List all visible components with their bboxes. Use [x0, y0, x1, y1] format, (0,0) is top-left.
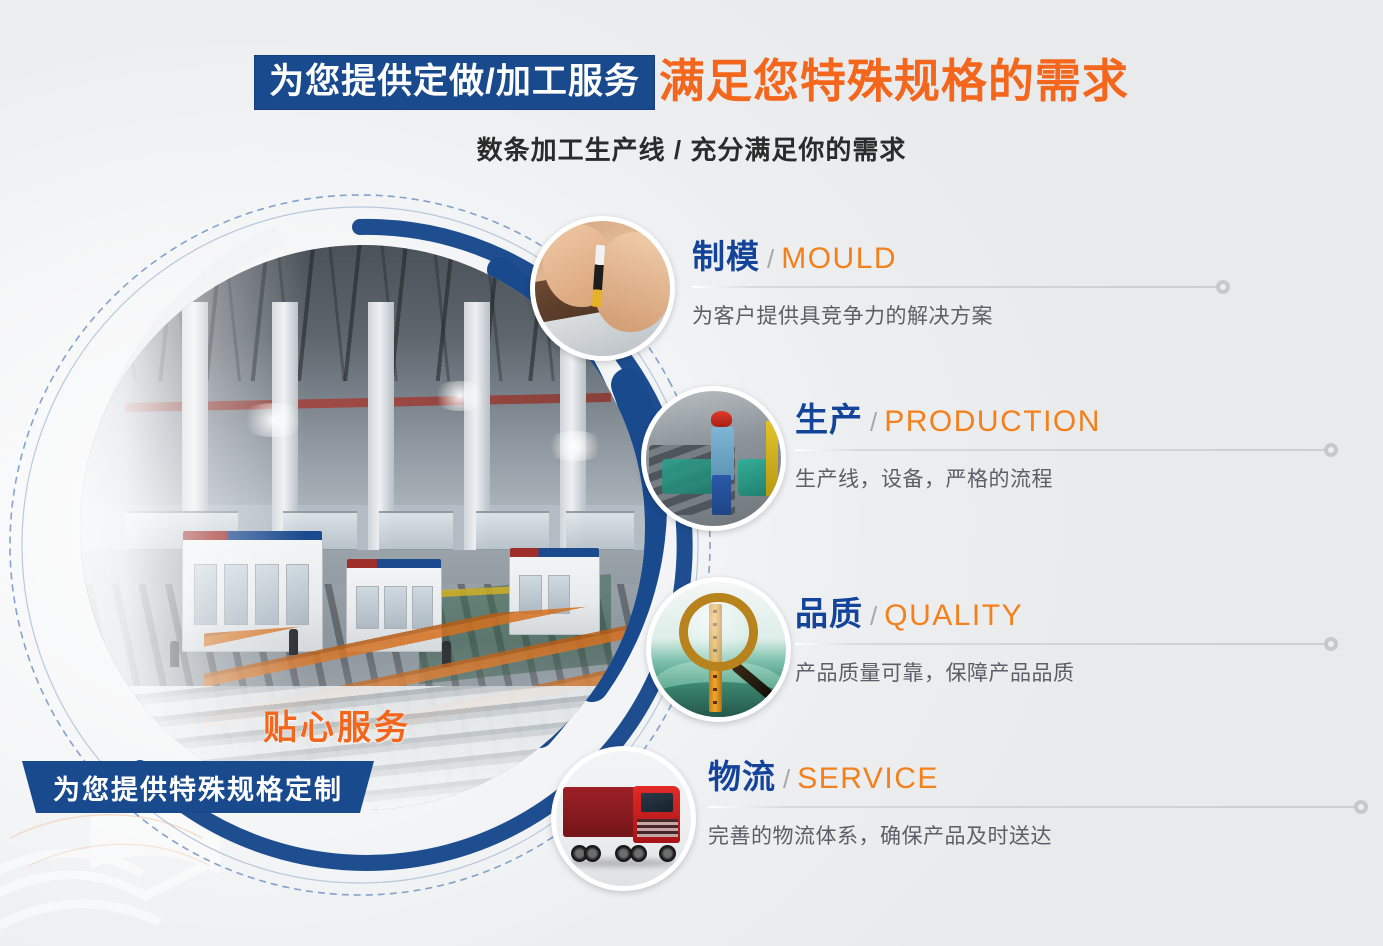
service-item-desc-quality: 产品质量可靠，保障产品品质: [795, 657, 1330, 687]
service-banner[interactable]: 为您提供特殊规格定制: [22, 761, 374, 813]
service-item-title-cn: 制模: [692, 238, 760, 275]
service-item-text-logistics: 物流/SERVICE 完善的物流体系，确保产品及时送达: [708, 760, 1368, 850]
service-item-title-separator: /: [783, 764, 790, 794]
rule-endpoint-dot: [1354, 800, 1368, 814]
magnifier-ruler-icon: [651, 582, 786, 717]
rule-endpoint-dot: [1324, 637, 1338, 651]
service-item-title-cn: 生产: [795, 401, 863, 438]
service-item-desc-production: 生产线，设备，严格的流程: [795, 463, 1330, 493]
red-truck-icon: [556, 751, 691, 886]
service-item-title-en: PRODUCTION: [884, 405, 1101, 438]
service-item-title-en: SERVICE: [797, 762, 939, 795]
service-item-title-en: QUALITY: [884, 599, 1023, 632]
service-item-title-quality: 品质/QUALITY: [795, 597, 1330, 631]
title-row: 为您提供定做/加工服务满足您特殊规格的需求: [0, 55, 1383, 110]
service-item-thumb-logistics[interactable]: [551, 746, 696, 891]
service-item-thumb-production[interactable]: [641, 386, 786, 531]
service-item-rule-logistics: [708, 806, 1360, 808]
service-item-text-mould: 制模/MOULD 为客户提供具竞争力的解决方案: [692, 240, 1222, 330]
service-item-title-separator: /: [870, 601, 877, 631]
service-item-title-mould: 制模/MOULD: [692, 240, 1222, 274]
service-item-rule-quality: [795, 643, 1330, 645]
service-item-rule-mould: [692, 286, 1222, 288]
service-highlight-block: 贴心服务 为您提供特殊规格定制: [22, 700, 422, 813]
service-item-title-cn: 品质: [795, 595, 863, 632]
title-badge: 为您提供定做/加工服务: [254, 55, 655, 110]
service-item-title-separator: /: [767, 244, 774, 274]
service-item-title-en: MOULD: [781, 242, 897, 275]
title-accent-text: 满足您特殊规格的需求: [659, 58, 1129, 104]
header: 为您提供定做/加工服务满足您特殊规格的需求 数条加工生产线 / 充分满足你的需求: [0, 0, 1383, 190]
service-item-title-cn: 物流: [708, 758, 776, 795]
service-item-title-separator: /: [870, 407, 877, 437]
promo-banner: 贴心服务 为您提供特殊规格定制 为您提供定做/加工服务满足您特殊规格的需求 数条…: [0, 0, 1383, 946]
service-item-text-quality: 品质/QUALITY 产品质量可靠，保障产品品质: [795, 597, 1330, 687]
rule-endpoint-dot: [1216, 280, 1230, 294]
service-item-thumb-mould[interactable]: [530, 216, 675, 361]
hand-scriber-icon: [535, 221, 670, 356]
service-item-desc-mould: 为客户提供具竞争力的解决方案: [692, 300, 1222, 330]
service-item-rule-production: [795, 449, 1330, 451]
rule-endpoint-dot: [1324, 443, 1338, 457]
service-item-desc-logistics: 完善的物流体系，确保产品及时送达: [708, 820, 1368, 850]
service-item-thumb-quality[interactable]: [646, 577, 791, 722]
service-heading: 贴心服务: [172, 700, 502, 749]
page-subtitle: 数条加工生产线 / 充分满足你的需求: [0, 130, 1383, 167]
service-item-title-logistics: 物流/SERVICE: [708, 760, 1368, 794]
factory-worker-icon: [646, 391, 781, 526]
service-item-title-production: 生产/PRODUCTION: [795, 403, 1330, 437]
service-item-text-production: 生产/PRODUCTION 生产线，设备，严格的流程: [795, 403, 1330, 493]
